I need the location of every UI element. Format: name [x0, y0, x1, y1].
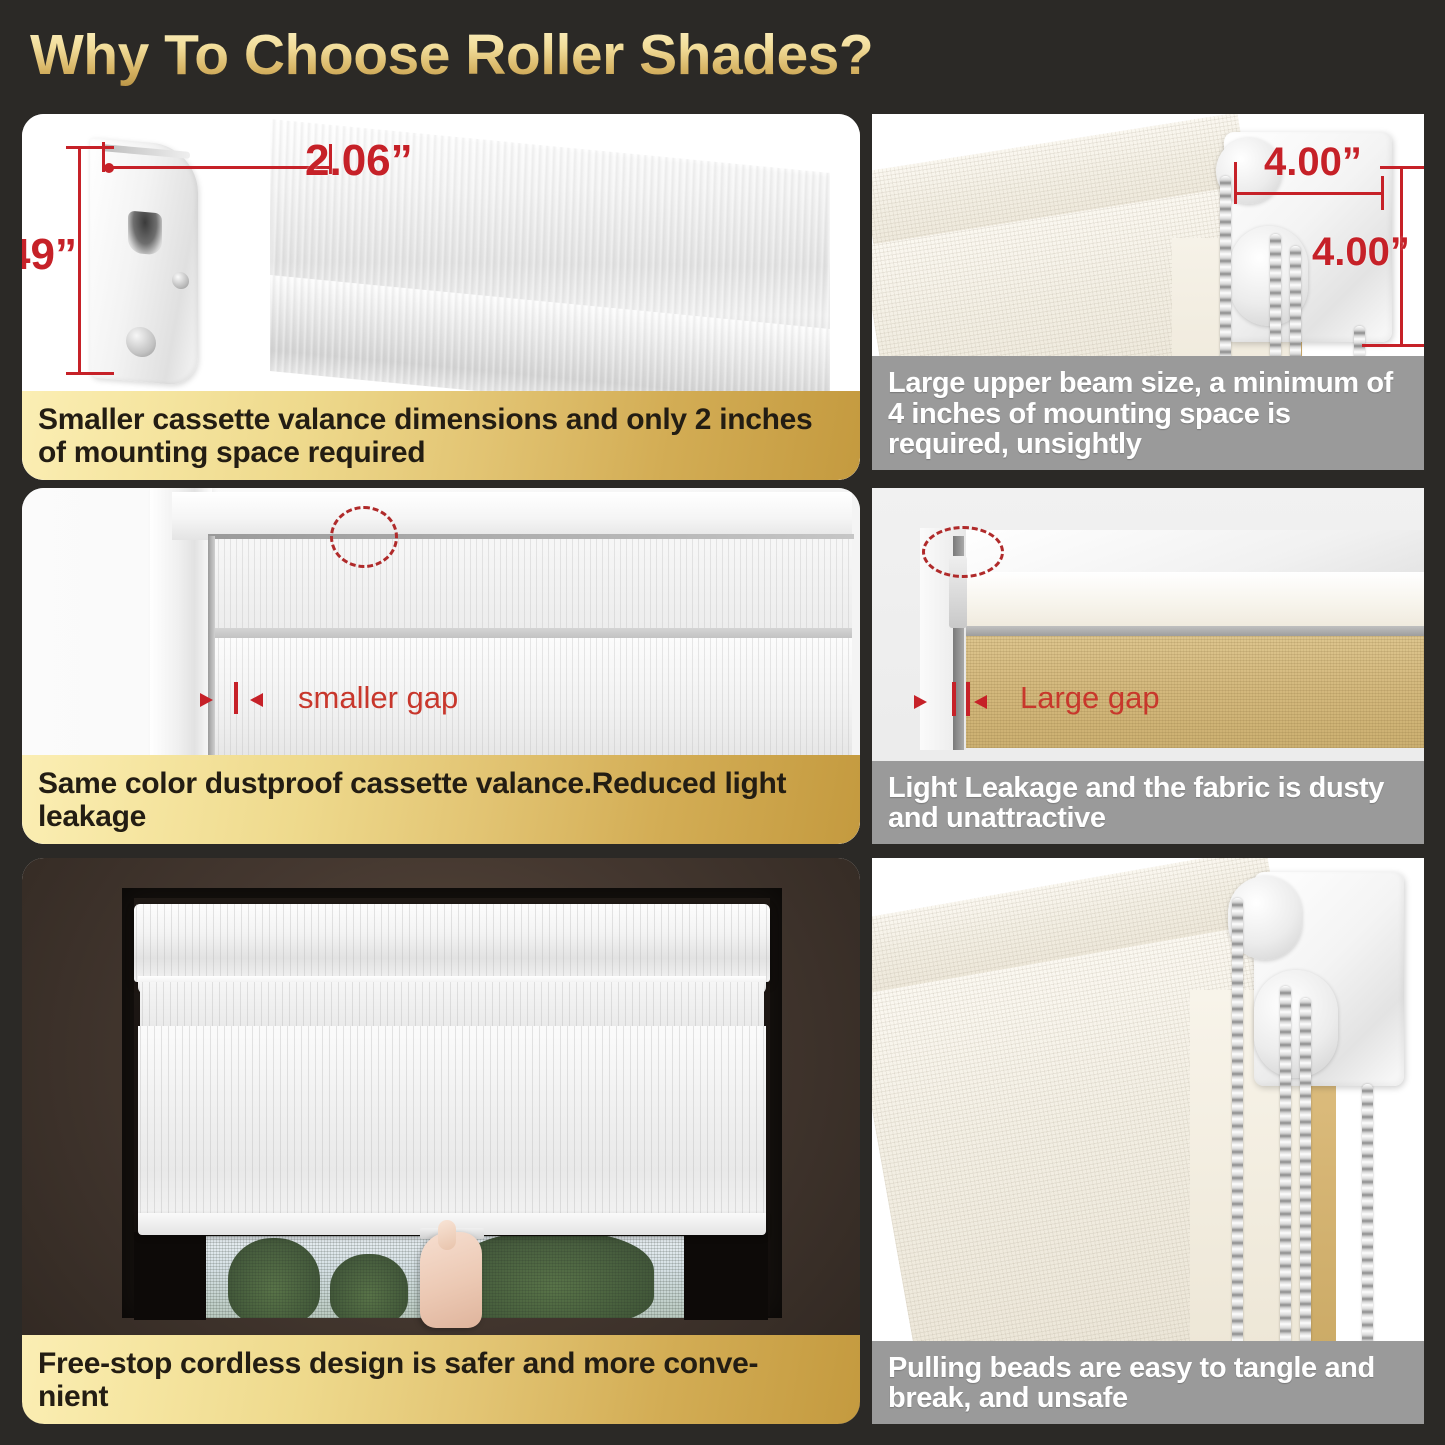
beam-width-line — [1234, 192, 1384, 195]
height-dim-tick-top — [66, 146, 114, 149]
beam-depth-tick-bottom — [1362, 344, 1424, 347]
highlight-circle-top-gap — [330, 506, 398, 568]
shade-upper-band — [140, 982, 764, 1030]
valance-chain-hole — [128, 211, 162, 256]
panel-caption-cordless-design: Free-stop cordless design is safer and m… — [22, 1335, 860, 1424]
height-dimension-label: 5.49” — [22, 230, 77, 280]
bead-chain-middle — [1280, 986, 1291, 1364]
panel-caption-pulling-beads: Pulling beads are easy to tangle and bre… — [872, 1341, 1424, 1424]
gap-label-smaller: smaller gap — [298, 680, 458, 716]
width-dimension-label: 2.06” — [305, 136, 413, 186]
beam-width-tick-left — [1234, 162, 1237, 204]
window-recess-right — [684, 1232, 768, 1320]
bead-chain-middle — [1270, 234, 1281, 372]
gap-marker-line — [234, 682, 238, 714]
window-recess-left — [134, 1232, 206, 1320]
panel-large-beam: 4.00” 4.00” Large upper beam size, a min… — [872, 114, 1424, 470]
cassette-valance — [134, 904, 770, 982]
panel-caption-light-leakage: Light Leakage and the fabric is dusty an… — [872, 761, 1424, 844]
caption-line-2: nient — [38, 1380, 108, 1413]
gap-arrow-left — [200, 693, 213, 707]
bead-chain-rear — [1290, 246, 1301, 372]
caption-line-1: Free-stop cordless design is safer and m… — [38, 1347, 758, 1380]
gap-marker-line-outer — [952, 682, 956, 716]
beam-depth-tick-top — [1380, 166, 1424, 169]
bracket-roller-disc-bottom — [1254, 970, 1338, 1078]
gap-marker-line-inner — [966, 682, 970, 716]
infographic-root: Why To Choose Roller Shades? 2.06” — [0, 0, 1445, 1445]
height-dim-tick-bottom — [66, 372, 114, 375]
panel-dustproof-valance: smaller gap Same color dustproof cassett… — [22, 488, 860, 844]
valance-screw-upper — [172, 271, 189, 289]
page-title: Why To Choose Roller Shades? — [30, 22, 1030, 88]
panel-caption-dustproof-valance: Same color dustproof cassette valance.Re… — [22, 755, 860, 844]
shade-fabric — [138, 1026, 766, 1226]
panel-light-leakage: Large gap Light Leakage and the fabric i… — [872, 488, 1424, 844]
gap-arrow-left — [914, 695, 927, 709]
gap-label-large: Large gap — [1020, 680, 1160, 716]
gap-arrow-right — [250, 693, 263, 707]
bead-chain-front — [1220, 176, 1231, 372]
valance-top-edge — [208, 534, 854, 539]
panel-caption-large-beam: Large upper beam size, a minimum of 4 in… — [872, 356, 1424, 470]
panel-cassette-dimensions: 2.06” 5.49” Smaller cassette valance dim… — [22, 114, 860, 480]
width-dimension-line — [102, 166, 332, 169]
hand-finger — [438, 1220, 456, 1250]
photo-beige-shade-beadchains — [872, 858, 1424, 1424]
panel-caption-cassette-dimensions: Smaller cassette valance dimensions and … — [22, 391, 860, 480]
window-head-trim — [172, 492, 852, 540]
beam-lower-edge — [964, 626, 1424, 636]
beam-width-tick-right — [1381, 176, 1384, 210]
highlight-circle-corner — [922, 526, 1004, 578]
beam-depth-label: 4.00” — [1312, 230, 1410, 275]
panel-cordless-design: Free-stop cordless design is safer and m… — [22, 858, 860, 1424]
upper-beam — [964, 572, 1424, 630]
bead-chain-rear — [1300, 998, 1311, 1364]
height-dimension-line — [78, 146, 81, 374]
gap-arrow-right — [974, 695, 987, 709]
panel-pulling-beads: Pulling beads are easy to tangle and bre… — [872, 858, 1424, 1424]
valance-side-edge — [208, 536, 215, 758]
bead-chain-loop — [1362, 1084, 1373, 1364]
bead-chain-front — [1232, 898, 1243, 1364]
beam-width-label: 4.00” — [1264, 140, 1362, 185]
